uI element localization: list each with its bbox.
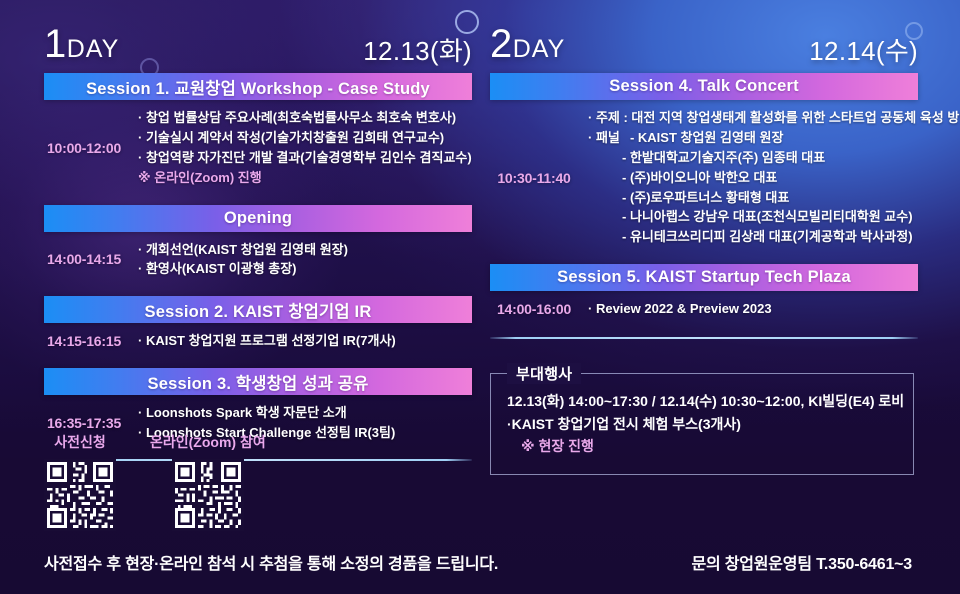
qr-block-zoom: 온라인(Zoom) 참여 xyxy=(150,432,266,531)
qr-code-icon[interactable] xyxy=(172,459,244,531)
session-1-note: ※ 온라인(Zoom) 진행 xyxy=(138,168,472,188)
day1-date: 12.13(화) xyxy=(363,38,472,64)
session-2-slot: 14:15-16:15 KAIST 창업지원 프로그램 선정기업 IR(7개사) xyxy=(30,323,472,359)
session-1-slot: 10:00-12:00 창업 법률상담 주요사례(최호숙법률사무소 최호숙 변호… xyxy=(30,100,472,196)
day1-word: DAY xyxy=(67,35,120,63)
session-bar-4: Session 4. Talk Concert xyxy=(490,73,918,100)
panel-first-entry: - KAIST 창업원 김영태 원장 xyxy=(630,130,783,145)
day1-number: 1 xyxy=(44,22,67,66)
day2-column: 2DAY 12.14(수) Session 4. Talk Concert 10… xyxy=(480,0,960,594)
opening-time: 14:00-14:15 xyxy=(30,251,138,267)
session-bar-4-title: Session 4. Talk Concert xyxy=(609,77,799,96)
session-4-items: 주제 : 대전 지역 창업생태계 활성화를 위한 스타트업 공동체 육성 방안 … xyxy=(588,108,960,247)
qr-section: 사전신청 xyxy=(44,432,266,531)
day2-bottom-divider xyxy=(490,337,918,339)
session-5-items: Review 2022 & Preview 2023 xyxy=(588,299,918,319)
session-4-slot: 10:30-11:40 주제 : 대전 지역 창업생태계 활성화를 위한 스타트… xyxy=(480,100,918,255)
day1-label: 1DAY xyxy=(44,24,119,64)
session-bar-1: Session 1. 교원창업 Workshop - Case Study xyxy=(44,73,472,100)
session-1-time: 10:00-12:00 xyxy=(30,140,138,156)
session-2-time: 14:15-16:15 xyxy=(30,333,138,349)
day2-header: 2DAY 12.14(수) xyxy=(490,24,936,64)
day2-label: 2DAY xyxy=(490,24,565,64)
footer-note: 사전접수 후 현장·온라인 참석 시 추첨을 통해 소정의 경품을 드립니다. xyxy=(44,550,498,574)
list-item: - 유니테크쓰리디피 김상래 대표(기계공학과 박사과정) xyxy=(588,227,960,247)
session-1-items: 창업 법률상담 주요사례(최호숙법률사무소 최호숙 변호사) 기술실시 계약서 … xyxy=(138,108,472,188)
list-item: - 한밭대학교기술지주(주) 임종태 대표 xyxy=(588,148,960,168)
opening-items: 개회선언(KAIST 창업원 김영태 원장) 환영사(KAIST 이광형 총장) xyxy=(138,240,472,280)
qr-block-preregister: 사전신청 xyxy=(44,432,116,531)
day2-word: DAY xyxy=(513,35,566,63)
day2-date: 12.14(수) xyxy=(809,38,918,64)
qr-code-icon[interactable] xyxy=(44,459,116,531)
day1-header: 1DAY 12.13(화) xyxy=(44,24,490,64)
session-bar-1-title: Session 1. 교원창업 Workshop - Case Study xyxy=(86,75,430,99)
event-poster: 1DAY 12.13(화) Session 1. 교원창업 Workshop -… xyxy=(0,0,960,594)
footer: 사전접수 후 현장·온라인 참석 시 추첨을 통해 소정의 경품을 드립니다. … xyxy=(0,550,960,572)
session-bar-3: Session 3. 학생창업 성과 공유 xyxy=(44,368,472,395)
side-event-note: ※ 현장 진행 xyxy=(507,435,899,458)
side-event-title: 부대행사 xyxy=(507,363,581,384)
session-bar-2-title: Session 2. KAIST 창업기업 IR xyxy=(145,298,372,322)
list-item: - (주)로우파트너스 황태형 대표 xyxy=(588,188,960,208)
opening-slot: 14:00-14:15 개회선언(KAIST 창업원 김영태 원장) 환영사(K… xyxy=(30,232,472,288)
list-item: Review 2022 & Preview 2023 xyxy=(588,299,918,319)
list-item: KAIST 창업지원 프로그램 선정기업 IR(7개사) xyxy=(138,331,472,351)
session-5-time: 14:00-16:00 xyxy=(480,301,588,317)
list-item: 주제 : 대전 지역 창업생태계 활성화를 위한 스타트업 공동체 육성 방안 xyxy=(588,108,960,128)
list-item: - 나니아랩스 강남우 대표(조천식모빌리티대학원 교수) xyxy=(588,207,960,227)
side-event-box: 부대행사 12.13(화) 14:00~17:30 / 12.14(수) 10:… xyxy=(490,373,914,475)
panel-label: 패널 xyxy=(596,128,630,148)
session-bar-5-title: Session 5. KAIST Startup Tech Plaza xyxy=(557,268,851,287)
session-bar-opening: Opening xyxy=(44,205,472,232)
session-bar-opening-title: Opening xyxy=(224,209,292,228)
side-event-line: KAIST 창업기업 전시 체험 부스(3개사) xyxy=(507,413,899,436)
list-item: Loonshots Spark 학생 자문단 소개 xyxy=(138,403,472,423)
side-event-line: 12.13(화) 14:00~17:30 / 12.14(수) 10:30~12… xyxy=(507,390,899,413)
session-3-time: 16:35-17:35 xyxy=(30,415,138,431)
session-2-items: KAIST 창업지원 프로그램 선정기업 IR(7개사) xyxy=(138,331,472,351)
qr-caption: 사전신청 xyxy=(54,432,106,452)
qr-caption: 온라인(Zoom) 참여 xyxy=(150,432,266,452)
list-item: 창업역량 자가진단 개발 결과(기술경영학부 김인수 겸직교수) xyxy=(138,148,472,168)
session-5-slot: 14:00-16:00 Review 2022 & Preview 2023 xyxy=(480,291,918,327)
day2-number: 2 xyxy=(490,22,513,66)
list-item: 개회선언(KAIST 창업원 김영태 원장) xyxy=(138,240,472,260)
session-bar-2: Session 2. KAIST 창업기업 IR xyxy=(44,296,472,323)
list-item: - (주)바이오니아 박한오 대표 xyxy=(588,168,960,188)
list-item: 환영사(KAIST 이광형 총장) xyxy=(138,259,472,279)
session-4-time: 10:30-11:40 xyxy=(480,170,588,186)
session-bar-3-title: Session 3. 학생창업 성과 공유 xyxy=(147,370,368,394)
footer-contact: 문의 창업원운영팀 T.350-6461~3 xyxy=(691,550,912,574)
session-bar-5: Session 5. KAIST Startup Tech Plaza xyxy=(490,264,918,291)
panel-list-item: · 패널- KAIST 창업원 김영태 원장 xyxy=(588,128,960,148)
list-item: 창업 법률상담 주요사례(최호숙법률사무소 최호숙 변호사) xyxy=(138,108,472,128)
list-item: 기술실시 계약서 작성(기술가치창출원 김희태 연구교수) xyxy=(138,128,472,148)
